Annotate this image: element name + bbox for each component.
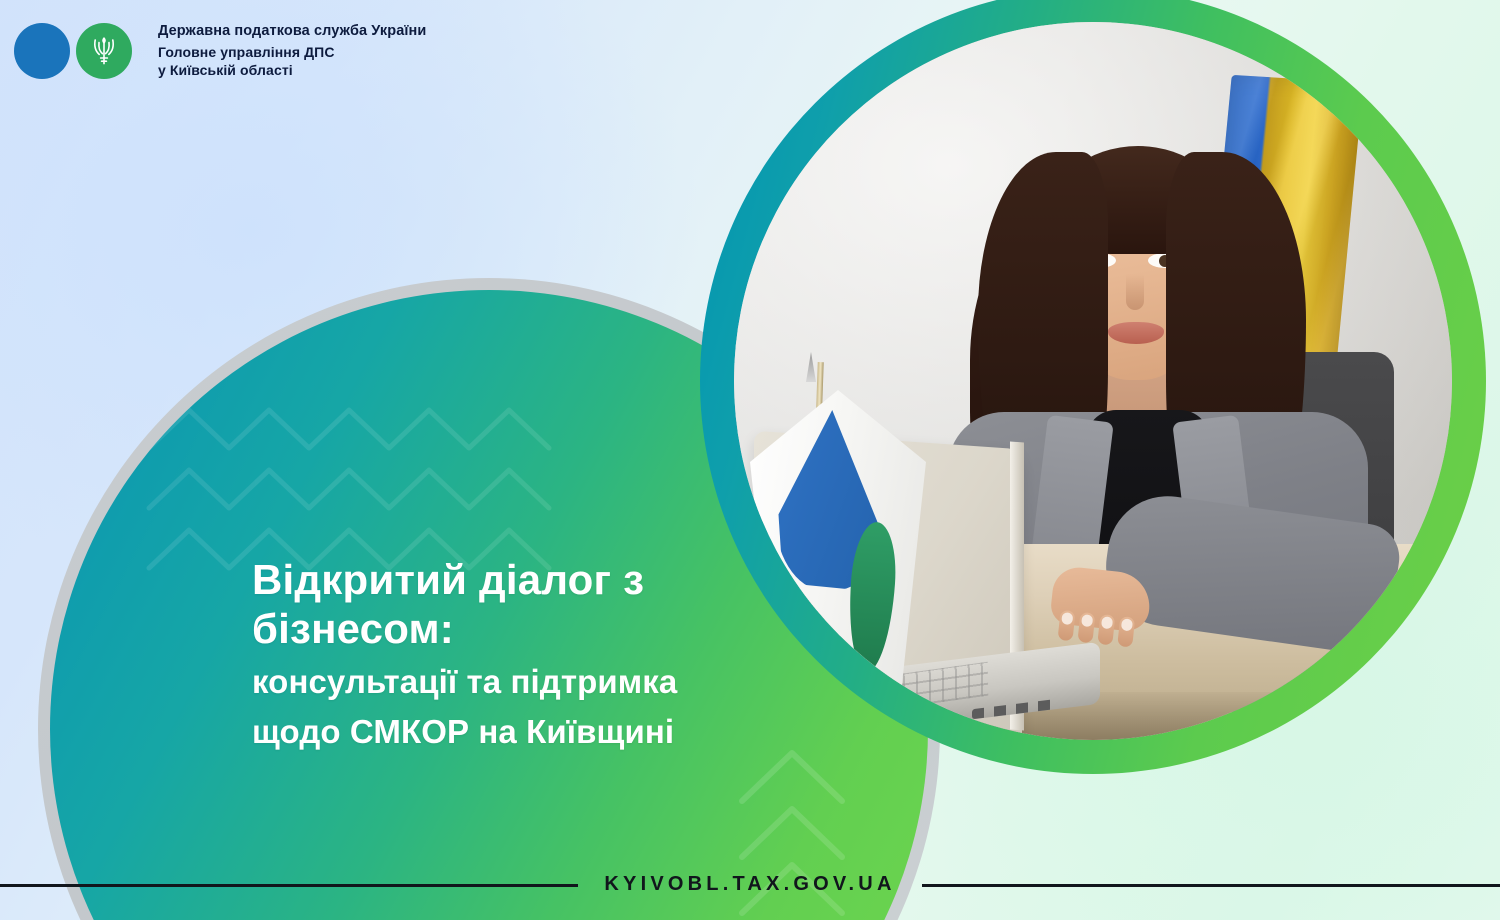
- headline-line-3: консультації та підтримка: [252, 661, 872, 703]
- green-circle-icon: [76, 23, 132, 79]
- website-url[interactable]: KYIVOBL.TAX.GOV.UA: [578, 873, 921, 896]
- ukraine-trident-icon: [91, 35, 117, 67]
- org-line-2: Головне управління ДПС: [158, 44, 426, 62]
- org-line-3: у Київській області: [158, 62, 426, 80]
- blue-circle-icon: [14, 23, 70, 79]
- footer-rule-left: [0, 884, 578, 887]
- org-line-1: Державна податкова служба України: [158, 22, 426, 40]
- chevron-pattern-top: [145, 390, 565, 580]
- headline-line-4: щодо СМКОР на Київщині: [252, 711, 872, 753]
- headline-line-1: Відкритий діалог з: [252, 556, 872, 605]
- nose: [1126, 274, 1144, 310]
- poster-canvas: Державна податкова служба України Головн…: [0, 0, 1500, 920]
- org-name-block: Державна податкова служба України Головн…: [158, 22, 426, 80]
- footer-bar: KYIVOBL.TAX.GOV.UA: [0, 884, 1500, 887]
- footer-rule-right: [922, 884, 1500, 887]
- headline-line-2: бізнесом:: [252, 605, 872, 654]
- brand-logo: Державна податкова служба України Головн…: [14, 22, 426, 80]
- headline-block: Відкритий діалог з бізнесом: консультаці…: [252, 556, 872, 753]
